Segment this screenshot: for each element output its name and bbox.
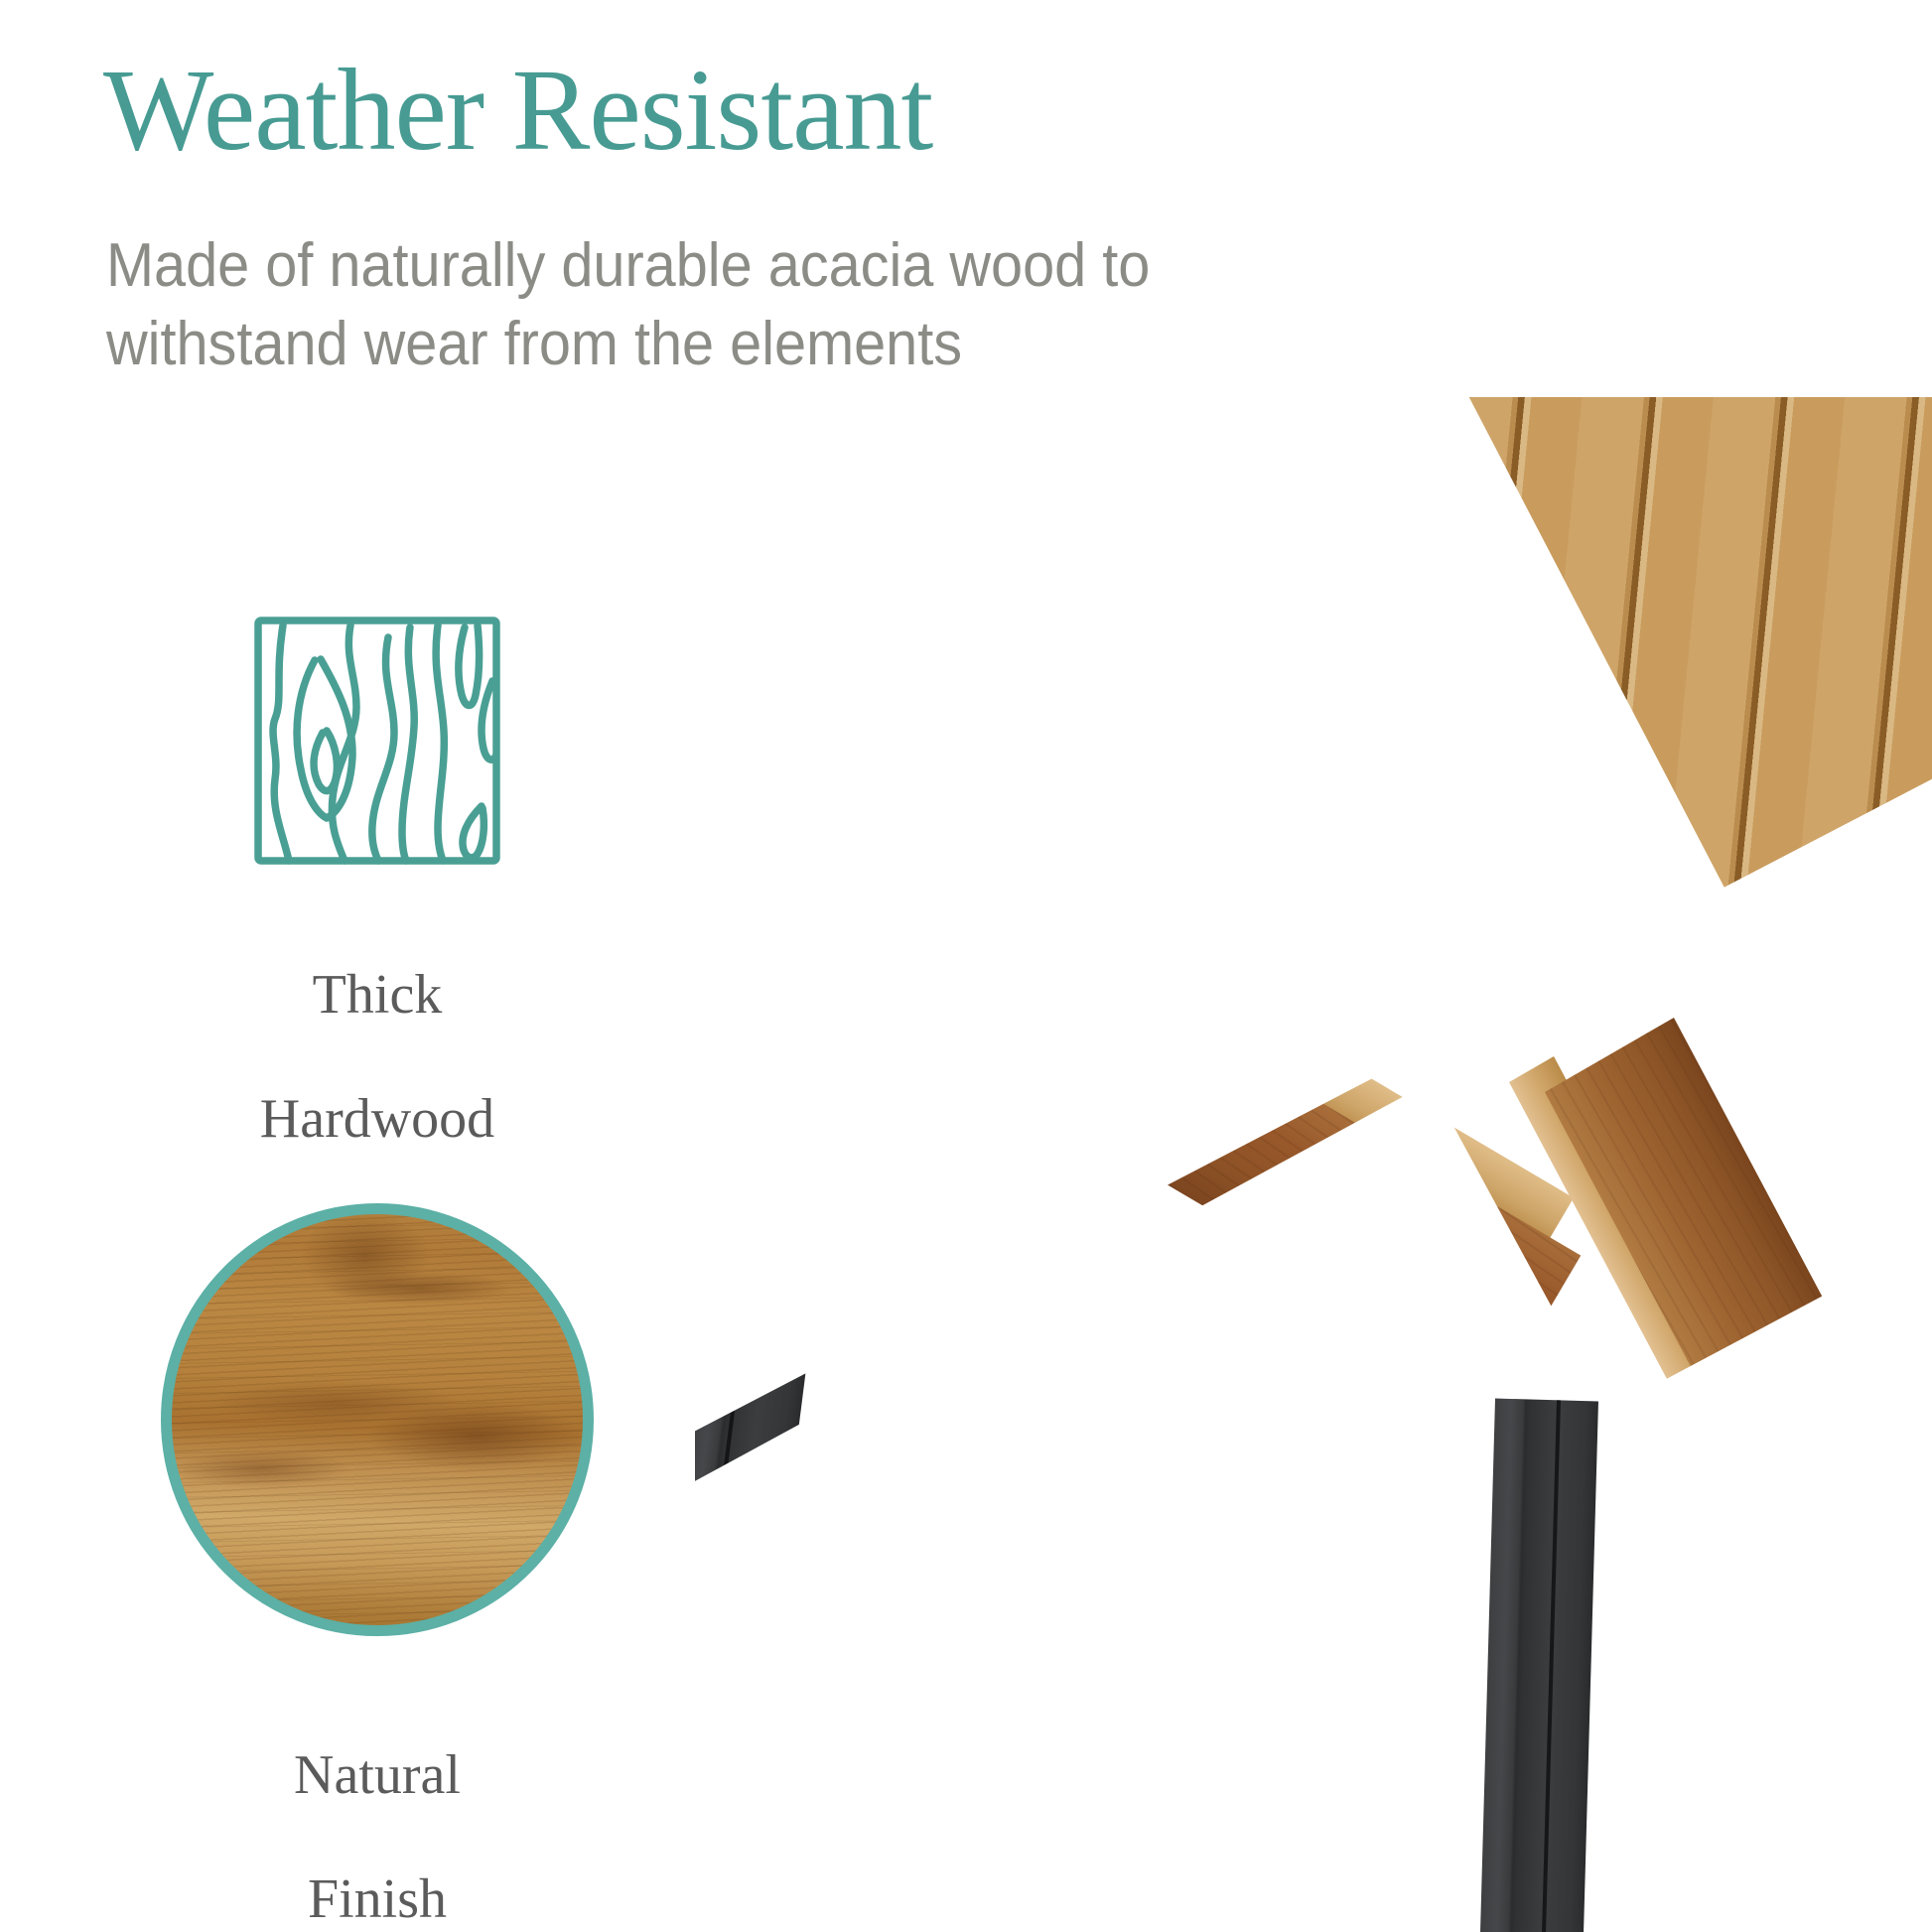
wood-grain-icon — [253, 616, 501, 866]
acacia-table — [635, 397, 1932, 1932]
feature-label-line-2: Finish — [308, 1868, 447, 1930]
leg-seam — [1530, 1400, 1561, 1932]
page-subtitle: Made of naturally durable acacia wood to… — [106, 226, 1307, 384]
feature-label-line-2: Hardwood — [260, 1088, 494, 1150]
feature-label-natural-finish: Natural Finish — [294, 1682, 461, 1931]
subtitle-line-1: Made of naturally durable acacia wood to — [106, 226, 1307, 305]
feature-label-line-1: Natural — [294, 1744, 461, 1806]
photo-mask — [635, 1730, 1932, 1932]
feature-label-thick-hardwood: Thick Hardwood — [260, 901, 494, 1151]
feature-thick-hardwood: Thick Hardwood — [159, 616, 596, 1151]
wood-finish-swatch — [161, 1203, 594, 1636]
feature-natural-finish: Natural Finish — [159, 1203, 596, 1931]
product-feature-banner: Weather Resistant Made of naturally dura… — [0, 0, 1932, 1932]
product-photo — [635, 397, 1932, 1932]
page-title: Weather Resistant — [103, 52, 932, 169]
subtitle-line-2: withstand wear from the elements — [106, 305, 1307, 383]
feature-label-line-1: Thick — [313, 964, 443, 1026]
